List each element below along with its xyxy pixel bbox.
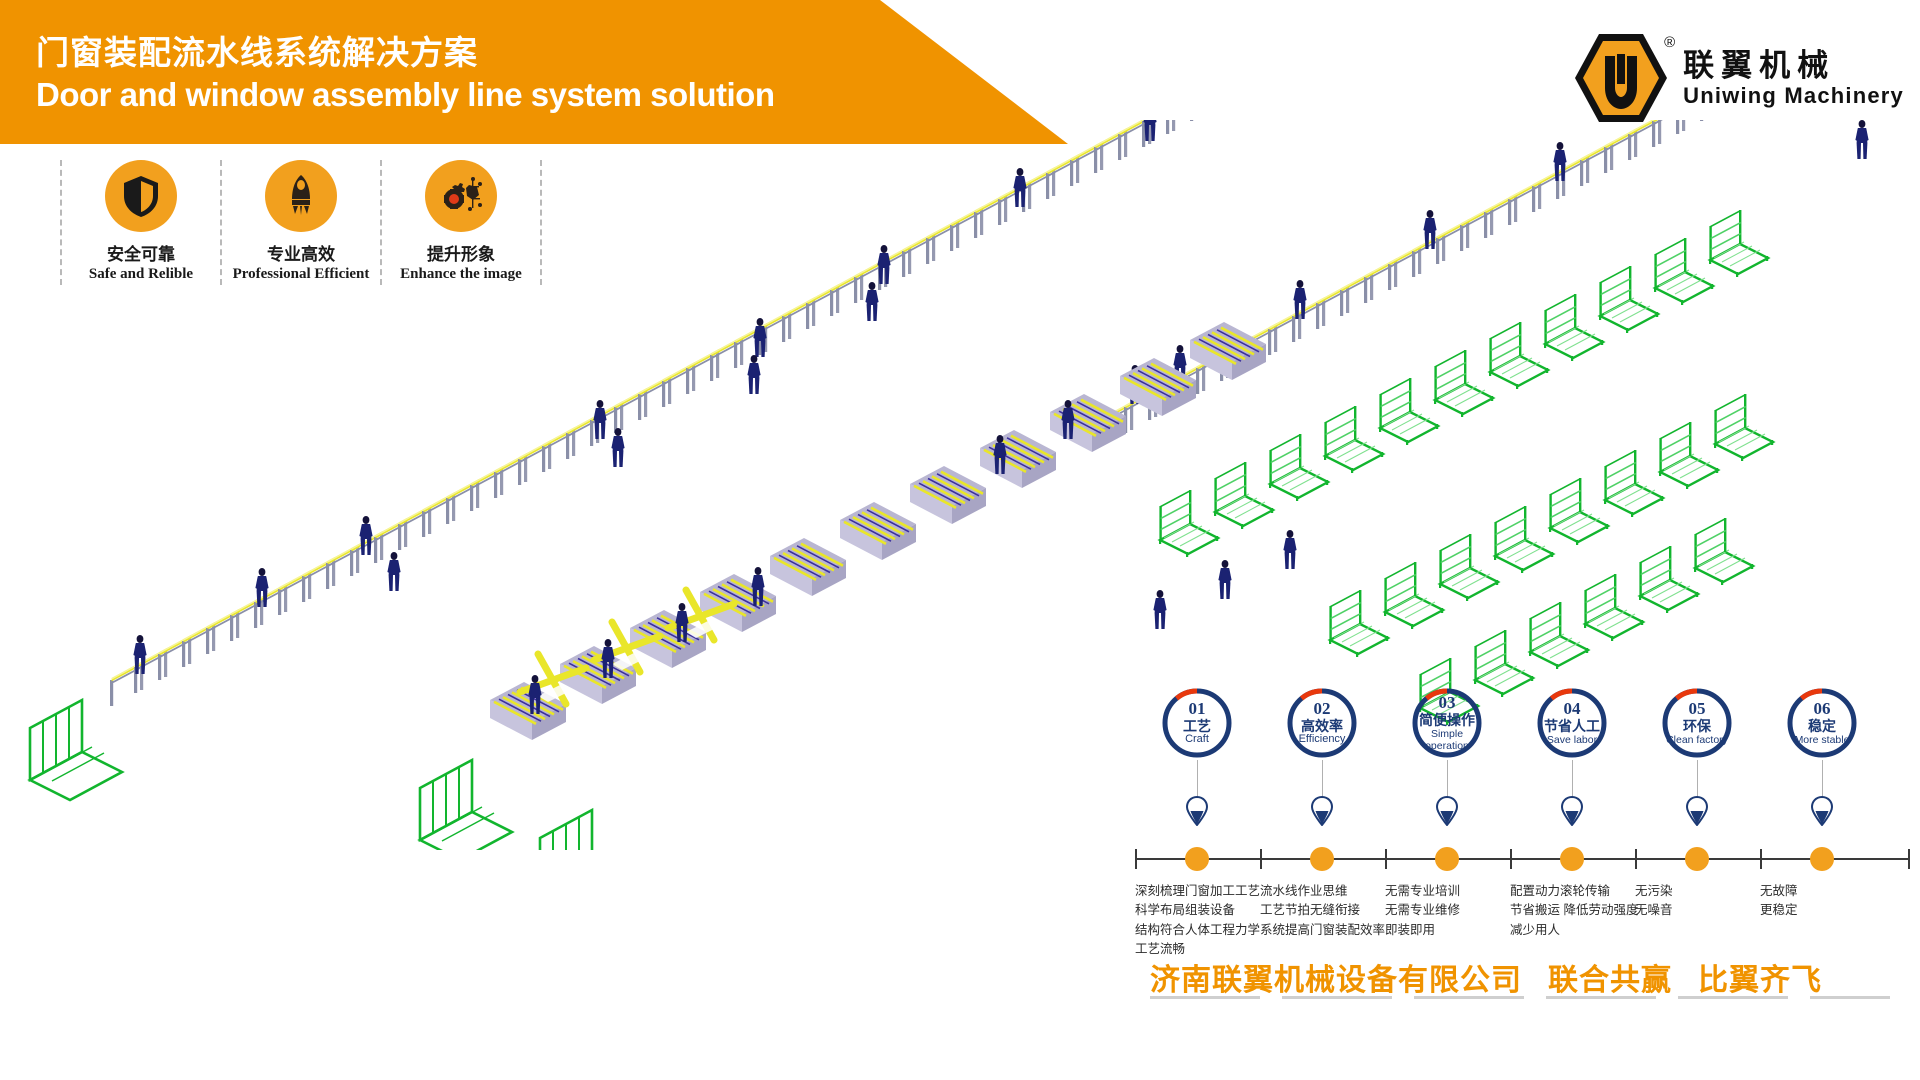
- timeline-axis: [1135, 858, 1910, 860]
- timeline-node-01[interactable]: 01 工艺 Craft 深刻梳理门窗加工工艺 科学布局组装设备 结构符合人体工程…: [1147, 686, 1247, 760]
- poster-canvas: 门窗装配流水线系统解决方案 Door and window assembly l…: [0, 0, 1920, 1080]
- node-stem: [1197, 760, 1198, 798]
- benefits-timeline: 01 工艺 Craft 深刻梳理门窗加工工艺 科学布局组装设备 结构符合人体工程…: [1135, 686, 1910, 956]
- node-number: 02: [1314, 700, 1331, 718]
- ring-progress-icon: 02 高效率 Efficiency: [1285, 686, 1359, 760]
- timeline-tick: [1135, 849, 1137, 869]
- node-number: 04: [1564, 700, 1581, 718]
- node-label-cn: 稳定: [1808, 719, 1836, 734]
- node-description: 深刻梳理门窗加工工艺 科学布局组装设备 结构符合人体工程力学 工艺流畅: [1135, 882, 1267, 960]
- node-stem: [1322, 760, 1323, 798]
- node-stem: [1822, 760, 1823, 798]
- node-label-cn: 环保: [1683, 719, 1711, 734]
- footer-slogan: 济南联翼机械设备有限公司 联合共赢 比翼齐飞: [1150, 955, 1910, 999]
- node-label-cn: 节省人工: [1544, 719, 1600, 734]
- timeline-node-03[interactable]: 03 简便操作 Simple operation 无需专业培训 无需专业维修 即…: [1397, 686, 1497, 760]
- node-label-en: Save labor: [1547, 734, 1597, 746]
- node-label-en: Clean factory: [1666, 734, 1728, 746]
- map-pin-icon: [1561, 796, 1583, 831]
- node-description: 流水线作业思维 工艺节拍无缝衔接 系统提高门窗装配效率: [1260, 882, 1392, 940]
- ring-progress-icon: 01 工艺 Craft: [1160, 686, 1234, 760]
- timeline-node-05[interactable]: 05 环保 Clean factory 无污染 无噪音: [1647, 686, 1747, 760]
- node-label-en: Craft: [1185, 734, 1209, 746]
- node-label-en: Efficiency: [1299, 734, 1346, 746]
- node-number: 05: [1689, 700, 1706, 718]
- page-title-en: Door and window assembly line system sol…: [36, 76, 774, 114]
- node-stem: [1697, 760, 1698, 798]
- timeline-dot: [1810, 847, 1834, 871]
- timeline-dot: [1310, 847, 1334, 871]
- registered-mark-icon: ®: [1664, 34, 1675, 51]
- ring-progress-icon: 06 稳定 More stable: [1785, 686, 1859, 760]
- ring-progress-icon: 05 环保 Clean factory: [1660, 686, 1734, 760]
- logo-name-cn: 联翼机械: [1683, 50, 1904, 81]
- node-description: 无污染 无噪音: [1635, 882, 1767, 921]
- timeline-dot: [1435, 847, 1459, 871]
- node-description: 无故障 更稳定: [1760, 882, 1892, 921]
- timeline-tick: [1385, 849, 1387, 869]
- brand-logo: ® 联翼机械 Uniwing Machinery: [1573, 30, 1904, 126]
- timeline-tick: [1908, 849, 1910, 869]
- timeline-node-06[interactable]: 06 稳定 More stable 无故障 更稳定: [1772, 686, 1872, 760]
- timeline-tick: [1510, 849, 1512, 869]
- timeline-tick: [1635, 849, 1637, 869]
- timeline-dot: [1560, 847, 1584, 871]
- material-cart-group-a: [1159, 210, 1768, 557]
- node-description: 配置动力滚轮传输 节省搬运 降低劳动强度 减少用人: [1510, 882, 1642, 940]
- map-pin-icon: [1686, 796, 1708, 831]
- page-title-cn: 门窗装配流水线系统解决方案: [36, 26, 478, 74]
- uniwing-hexagon-icon: ®: [1573, 30, 1669, 126]
- timeline-dot: [1685, 847, 1709, 871]
- footer-underline: [1150, 996, 1890, 999]
- ring-progress-icon: 03 简便操作 Simple operation: [1410, 686, 1484, 760]
- timeline-node-04[interactable]: 04 节省人工 Save labor 配置动力滚轮传输 节省搬运 降低劳动强度 …: [1522, 686, 1622, 760]
- node-number: 03: [1439, 694, 1456, 712]
- slogan-one: 联合共赢: [1548, 955, 1672, 999]
- node-stem: [1572, 760, 1573, 798]
- slogan-two: 比翼齐飞: [1698, 955, 1822, 999]
- logo-name-en: Uniwing Machinery: [1683, 85, 1904, 107]
- timeline-dot: [1185, 847, 1209, 871]
- node-label-cn: 简便操作: [1419, 713, 1475, 728]
- node-number: 06: [1814, 700, 1831, 718]
- node-label-cn: 工艺: [1183, 719, 1211, 734]
- roller-table-line: [490, 365, 1297, 740]
- ring-progress-icon: 04 节省人工 Save labor: [1535, 686, 1609, 760]
- timeline-tick: [1260, 849, 1262, 869]
- map-pin-icon: [1186, 796, 1208, 831]
- node-label-en: Simple operation: [1410, 728, 1484, 752]
- node-description: 无需专业培训 无需专业维修 即装即用: [1385, 882, 1517, 940]
- node-number: 01: [1189, 700, 1206, 718]
- timeline-tick: [1760, 849, 1762, 869]
- map-pin-icon: [1811, 796, 1833, 831]
- node-stem: [1447, 760, 1448, 798]
- node-label-en: More stable: [1795, 734, 1850, 746]
- conveyor-line-upper: [1100, 120, 1869, 446]
- map-pin-icon: [1311, 796, 1333, 831]
- node-label-cn: 高效率: [1301, 719, 1343, 734]
- material-cart-group-b: [1329, 394, 1773, 657]
- timeline-node-02[interactable]: 02 高效率 Efficiency 流水线作业思维 工艺节拍无缝衔接 系统提高门…: [1272, 686, 1372, 760]
- company-name: 济南联翼机械设备有限公司: [1150, 955, 1522, 999]
- map-pin-icon: [1436, 796, 1458, 831]
